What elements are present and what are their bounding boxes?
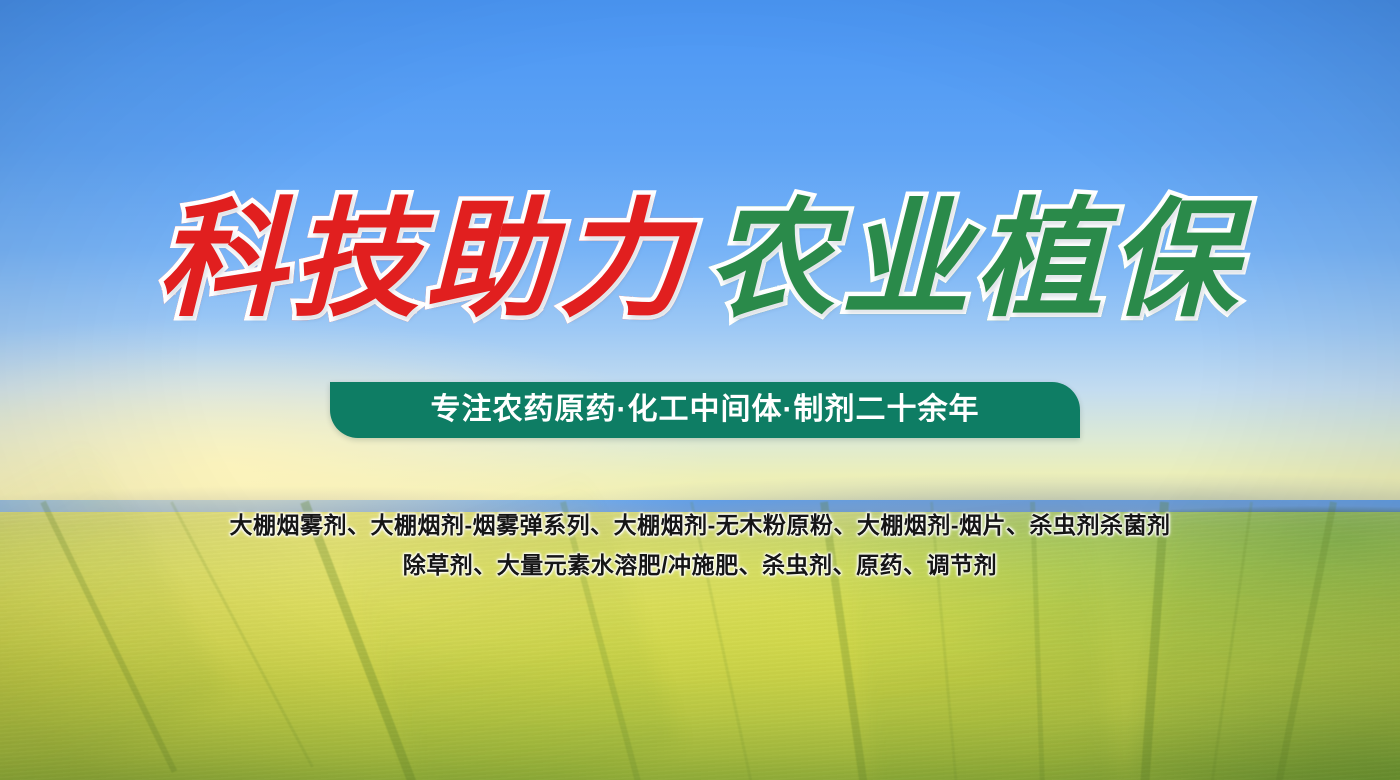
headline-green-text: 农业植保 bbox=[707, 196, 1243, 324]
headline: 科技助力农业植保 bbox=[0, 196, 1400, 324]
banner-content: 科技助力农业植保 专注农药原药·化工中间体·制剂二十余年 大棚烟雾剂、大棚烟剂-… bbox=[0, 0, 1400, 780]
subtitle-text: 专注农药原药·化工中间体·制剂二十余年 bbox=[431, 395, 980, 425]
description-line-1: 大棚烟雾剂、大棚烟剂-烟雾弹系列、大棚烟剂-无木粉原粉、大棚烟剂-烟片、杀虫剂杀… bbox=[0, 506, 1400, 540]
subtitle-banner: 专注农药原药·化工中间体·制剂二十余年 bbox=[330, 382, 1080, 438]
hero-banner: 科技助力农业植保 专注农药原药·化工中间体·制剂二十余年 大棚烟雾剂、大棚烟剂-… bbox=[0, 0, 1400, 780]
description-line-2: 除草剂、大量元素水溶肥/冲施肥、杀虫剂、原药、调节剂 bbox=[0, 546, 1400, 580]
headline-red-text: 科技助力 bbox=[157, 196, 693, 324]
